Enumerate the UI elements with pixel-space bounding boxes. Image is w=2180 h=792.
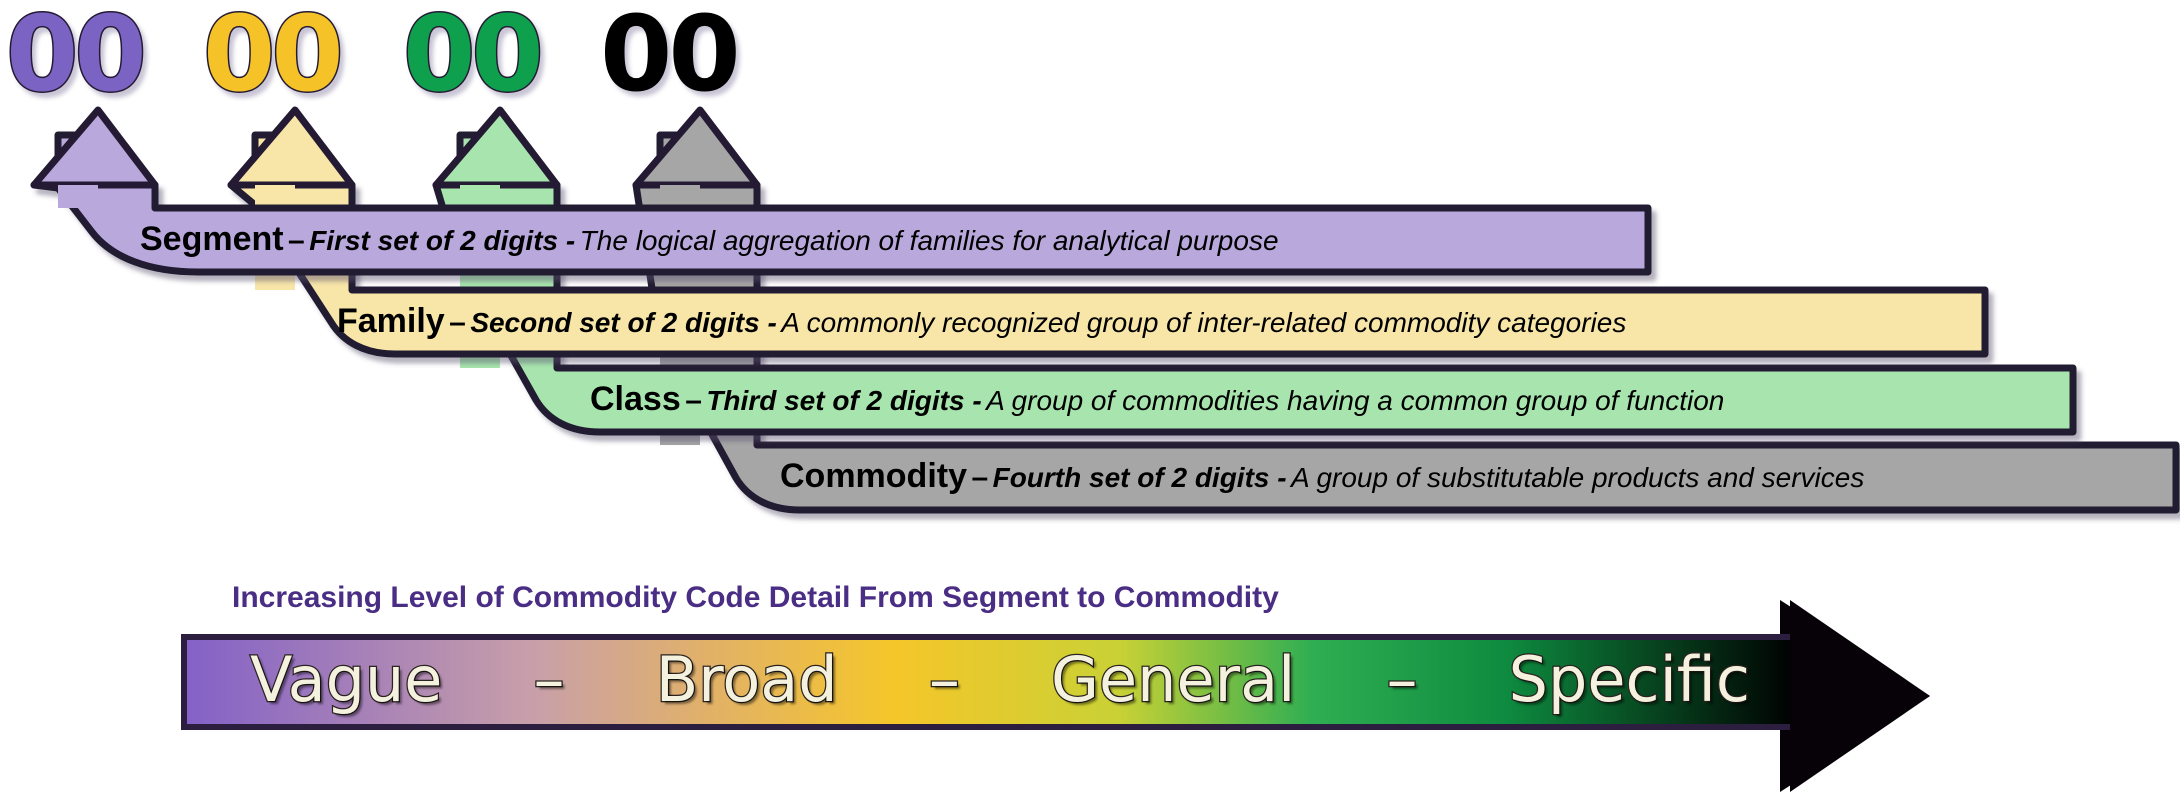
arrowhead-family — [231, 110, 352, 185]
level-subtitle-segment: First set of 2 digits - — [309, 225, 575, 256]
level-name-family: Family — [337, 302, 445, 340]
level-description-commodity: A group of substitutable products and se… — [1291, 462, 1864, 493]
level-name-segment: Segment — [140, 220, 284, 258]
level-label-commodity: Commodity – Fourth set of 2 digits - A g… — [780, 459, 1864, 493]
arrowhead-segment — [34, 110, 155, 185]
arrowhead-commodity — [636, 110, 757, 185]
scale-caption: Increasing Level of Commodity Code Detai… — [232, 581, 1279, 615]
diagram-canvas: 00 00 00 00 Segment – First set of 2 dig… — [0, 0, 2180, 792]
level-label-segment: Segment – First set of 2 digits - The lo… — [140, 222, 1279, 256]
code-digits-commodity: 00 — [600, 2, 737, 106]
level-label-family: Family – Second set of 2 digits - A comm… — [337, 304, 1626, 338]
code-digits-segment: 00 — [6, 2, 143, 106]
level-subtitle-class: Third set of 2 digits - — [706, 385, 981, 416]
level-description-segment: The logical aggregation of families for … — [580, 225, 1279, 256]
level-description-class: A group of commodities having a common g… — [986, 385, 1724, 416]
code-digits-family: 00 — [203, 2, 340, 106]
level-description-family: A commonly recognized group of inter-rel… — [781, 307, 1626, 338]
level-name-class: Class — [590, 380, 681, 418]
level-subtitle-commodity: Fourth set of 2 digits - — [993, 462, 1287, 493]
level-dash-segment: – — [288, 224, 305, 257]
code-digits-class: 00 — [403, 2, 540, 106]
level-dash-commodity: – — [971, 461, 988, 494]
level-dash-family: – — [449, 306, 466, 339]
level-label-class: Class – Third set of 2 digits - A group … — [590, 382, 1724, 416]
scale-gradient-band — [184, 637, 1796, 727]
level-name-commodity: Commodity — [780, 457, 967, 495]
scale-arrow-head-overlay — [1790, 600, 1930, 792]
level-subtitle-family: Second set of 2 digits - — [470, 307, 776, 338]
level-dash-class: – — [685, 384, 702, 417]
arrow-shaft-segment — [58, 185, 98, 208]
arrowhead-class — [436, 110, 557, 185]
